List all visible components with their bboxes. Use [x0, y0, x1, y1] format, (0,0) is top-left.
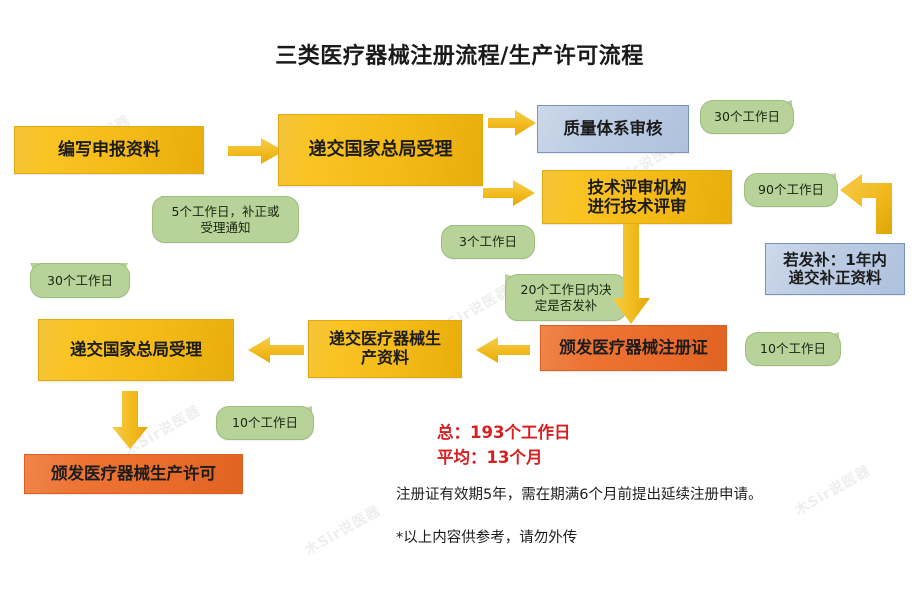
arrow-down-icon	[612, 224, 650, 324]
flowchart-canvas: 木Sir说医器 木Sir说医器 木Sir说医器 木Sir说医器 木Sir说医器 …	[0, 0, 919, 604]
arrow-right-icon	[228, 137, 284, 165]
callout-5-working-days-notice: 5个工作日，补正或 受理通知	[152, 196, 297, 241]
node-label: 质量体系审核	[564, 119, 663, 138]
arrow-down-icon	[112, 391, 148, 449]
callout-label-line2: 受理通知	[200, 220, 250, 236]
page-title: 三类医疗器械注册流程/生产许可流程	[0, 38, 919, 70]
arrow-elbow-left-icon	[840, 172, 908, 234]
callout-label: 90个工作日	[758, 182, 824, 198]
callout-label-line1: 20个工作日内决	[521, 282, 612, 298]
arrow-left-icon	[248, 337, 304, 363]
node-label-line1: 递交医疗器械生	[329, 330, 441, 349]
node-supplement-within-one-year[interactable]: 若发补：1年内 递交补正资料	[765, 243, 905, 295]
callout-label: 3个工作日	[459, 234, 517, 250]
node-label-line1: 技术评审机构	[588, 178, 687, 197]
node-label: 颁发医疗器械注册证	[559, 338, 708, 357]
callout-90-working-days-review: 90个工作日	[744, 173, 836, 205]
summary-total-days: 总：193个工作日	[437, 421, 570, 446]
callout-3-working-days: 3个工作日	[441, 225, 533, 257]
callout-label: 30个工作日	[47, 273, 113, 289]
node-submit-to-nmpa-acceptance-2[interactable]: 递交国家总局受理	[38, 319, 234, 381]
callout-label: 10个工作日	[232, 415, 298, 431]
callout-label: 10个工作日	[760, 341, 826, 357]
note-disclaimer: *以上内容供参考，请勿外传	[396, 527, 577, 550]
node-issue-manufacturing-license[interactable]: 颁发医疗器械生产许可	[24, 454, 243, 494]
watermark: 木Sir说医器	[791, 460, 874, 520]
arrow-left-icon	[476, 337, 530, 363]
node-label-line2: 进行技术评审	[588, 197, 687, 216]
callout-label: 30个工作日	[714, 109, 780, 125]
node-technical-review-institution[interactable]: 技术评审机构 进行技术评审	[542, 170, 732, 224]
callout-20-working-days-decision: 20个工作日内决 定是否发补	[505, 274, 625, 319]
callout-10-working-days-certificate: 10个工作日	[745, 332, 839, 364]
node-submit-manufacturing-materials[interactable]: 递交医疗器械生 产资料	[308, 320, 462, 378]
node-label-line2: 递交补正资料	[788, 269, 881, 287]
node-label: 颁发医疗器械生产许可	[51, 464, 216, 483]
node-prepare-application-materials[interactable]: 编写申报资料	[14, 126, 204, 174]
node-label: 编写申报资料	[58, 140, 160, 160]
node-issue-device-registration-certificate[interactable]: 颁发医疗器械注册证	[540, 325, 727, 371]
node-submit-to-nmpa-acceptance-1[interactable]: 递交国家总局受理	[278, 114, 483, 186]
callout-10-working-days-license: 10个工作日	[216, 406, 312, 438]
arrow-right-icon	[483, 180, 535, 206]
callout-label-line1: 5个工作日，补正或	[172, 204, 280, 220]
note-validity: 注册证有效期5年，需在期满6个月前提出延续注册申请。	[396, 484, 762, 507]
node-label-line2: 产资料	[361, 349, 409, 368]
summary-average-months: 平均：13个月	[437, 446, 542, 471]
node-quality-system-audit[interactable]: 质量体系审核	[537, 105, 689, 153]
callout-30-working-days-audit: 30个工作日	[700, 100, 792, 132]
arrow-right-icon	[488, 110, 536, 136]
node-label: 递交国家总局受理	[309, 139, 453, 160]
node-label: 递交国家总局受理	[70, 340, 202, 359]
callout-label-line2: 定是否发补	[535, 298, 598, 314]
node-label-line1: 若发补：1年内	[783, 251, 887, 269]
callout-30-working-days-acceptance: 30个工作日	[30, 263, 128, 296]
watermark: 木Sir说医器	[301, 500, 384, 560]
